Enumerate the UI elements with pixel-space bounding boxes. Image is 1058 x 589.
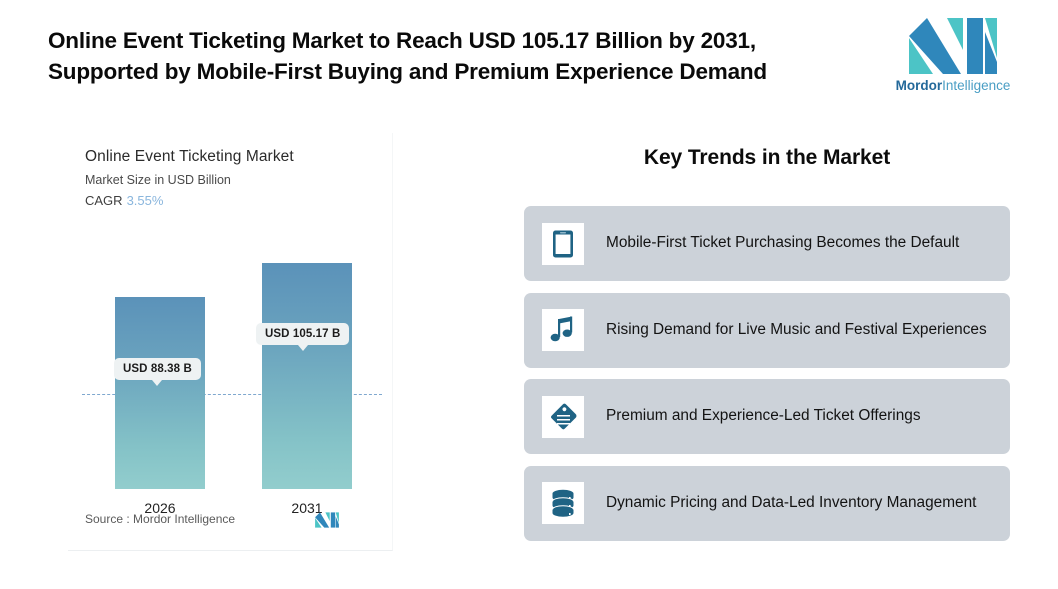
bar-value-label-2026: USD 88.38 B bbox=[114, 358, 201, 380]
trend-card-premium-offerings[interactable]: Premium and Experience-Led Ticket Offeri… bbox=[524, 379, 1010, 454]
music-note-icon bbox=[549, 315, 577, 345]
trend-card-dynamic-pricing[interactable]: Dynamic Pricing and Data-Led Inventory M… bbox=[524, 466, 1010, 541]
chart-cagr: CAGR3.55% bbox=[85, 193, 163, 208]
brand-name-bold: Mordor bbox=[896, 78, 943, 93]
trend-card-label: Rising Demand for Live Music and Festiva… bbox=[606, 320, 987, 341]
page-title-line-2: Supported by Mobile-First Buying and Pre… bbox=[48, 57, 868, 88]
bar-2026 bbox=[115, 297, 205, 489]
bar-2031 bbox=[262, 263, 352, 489]
page-title: Online Event Ticketing Market to Reach U… bbox=[48, 26, 868, 87]
bar-value-label-2031: USD 105.17 B bbox=[256, 323, 349, 345]
trend-icon-box bbox=[542, 309, 584, 351]
chart-subtitle: Market Size in USD Billion bbox=[85, 173, 231, 187]
trend-card-label: Premium and Experience-Led Ticket Offeri… bbox=[606, 406, 921, 427]
brand-name-light: Intelligence bbox=[942, 78, 1010, 93]
trend-icon-box bbox=[542, 482, 584, 524]
brand-wordmark: MordorIntelligence bbox=[896, 78, 1011, 93]
page-header: Online Event Ticketing Market to Reach U… bbox=[0, 0, 1058, 118]
chart-title: Online Event Ticketing Market bbox=[85, 148, 294, 166]
chart-card: Online Event Ticketing Market Market Siz… bbox=[68, 133, 393, 551]
brand-logo: MordorIntelligence bbox=[893, 18, 1013, 100]
trend-icon-box bbox=[542, 396, 584, 438]
trend-card-mobile-first[interactable]: Mobile-First Ticket Purchasing Becomes t… bbox=[524, 206, 1010, 281]
price-tag-icon bbox=[548, 402, 578, 432]
trend-card-live-music[interactable]: Rising Demand for Live Music and Festiva… bbox=[524, 293, 1010, 368]
mordor-m-logo-icon bbox=[314, 512, 340, 528]
trend-icon-box bbox=[542, 223, 584, 265]
bar-chart-plot: USD 88.38 B USD 105.17 B 2026 2031 bbox=[68, 228, 393, 518]
chart-source-text: Source : Mordor Intelligence bbox=[85, 512, 235, 526]
cagr-label: CAGR bbox=[85, 193, 123, 208]
mordor-m-logo-icon bbox=[905, 18, 1001, 74]
page-title-line-1: Online Event Ticketing Market to Reach U… bbox=[48, 26, 868, 57]
key-trends-heading: Key Trends in the Market bbox=[524, 146, 1010, 170]
key-trends-list: Mobile-First Ticket Purchasing Becomes t… bbox=[524, 206, 1010, 552]
trend-card-label: Dynamic Pricing and Data-Led Inventory M… bbox=[606, 493, 976, 514]
database-icon bbox=[549, 488, 577, 518]
trend-card-label: Mobile-First Ticket Purchasing Becomes t… bbox=[606, 233, 959, 254]
mobile-phone-icon bbox=[550, 229, 576, 259]
cagr-value: 3.55% bbox=[127, 193, 164, 208]
